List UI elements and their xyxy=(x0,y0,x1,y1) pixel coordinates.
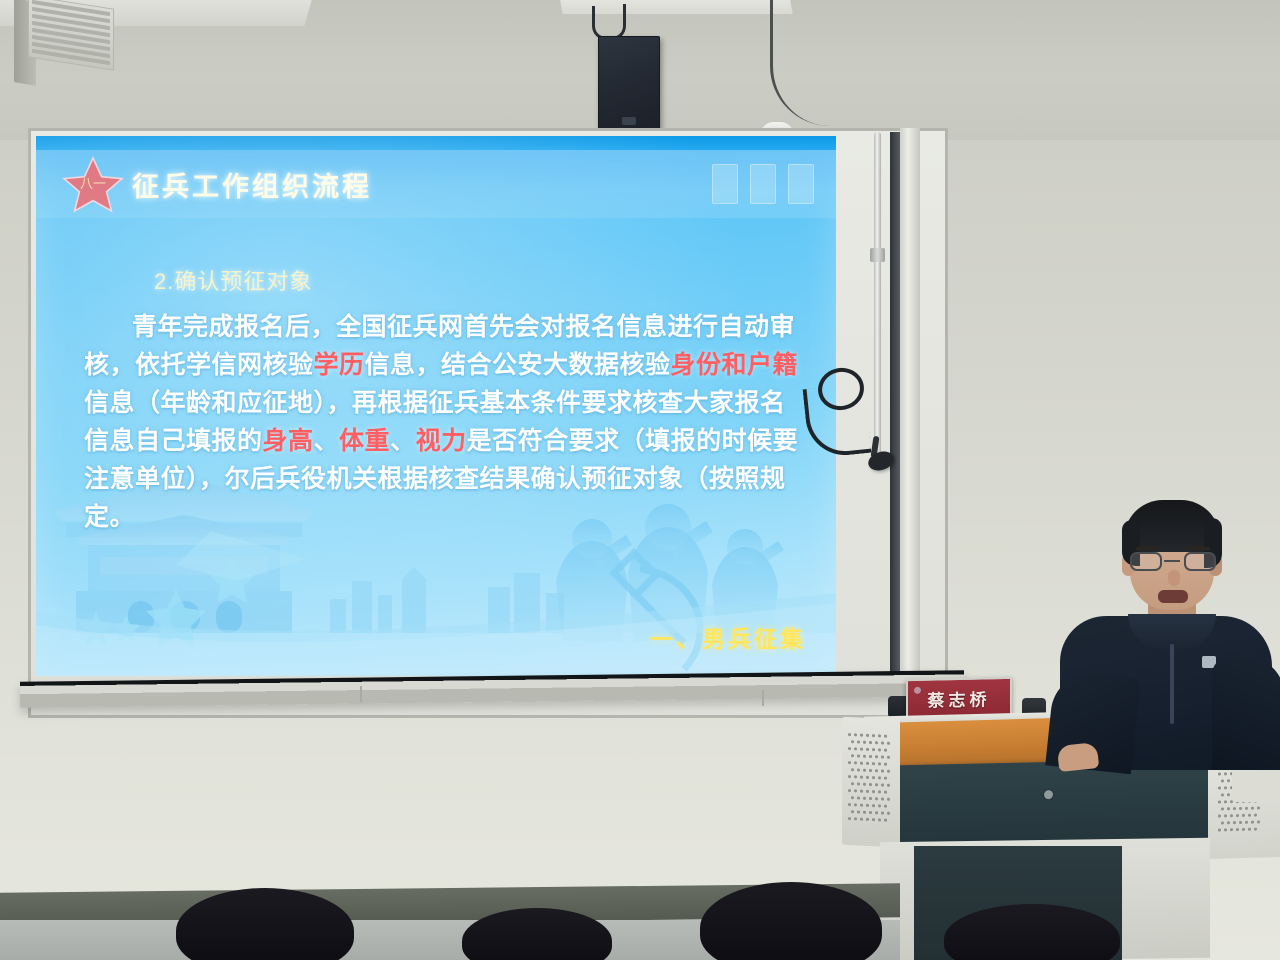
grill-dot xyxy=(1242,828,1245,831)
microphone-rod xyxy=(874,132,881,462)
header-decor-box-3 xyxy=(788,164,814,204)
presenter-arm-right xyxy=(1212,658,1280,770)
grill-dot xyxy=(1254,814,1257,817)
grill-dot xyxy=(1245,807,1248,810)
grill-dot xyxy=(1245,821,1248,824)
grill-dot xyxy=(884,777,887,780)
grill-dot xyxy=(1230,814,1233,817)
grill-dot xyxy=(854,789,857,792)
grill-dot xyxy=(872,804,875,807)
header-decor-box-1 xyxy=(712,164,738,204)
grill-dot xyxy=(878,734,881,737)
speaker-wire xyxy=(592,6,614,40)
grill-dot xyxy=(1227,793,1230,796)
grill-dot xyxy=(851,768,854,771)
slide-title: 征兵工作组织流程 xyxy=(132,165,372,204)
grill-dot xyxy=(866,804,869,807)
grill-dot xyxy=(875,741,878,744)
slide-body-text: 青年完成报名后，全国征兵网首先会对报名信息进行自动审核，依托学信网核验学历信息，… xyxy=(84,308,800,536)
eyeglasses-icon xyxy=(1128,552,1218,572)
presenter-nose xyxy=(1168,570,1180,586)
tray-seam-1 xyxy=(360,686,362,702)
grill-dot xyxy=(1218,786,1221,789)
grill-dot xyxy=(860,748,863,751)
grill-dot xyxy=(881,783,884,786)
microphone-collar xyxy=(870,248,885,262)
grill-dot xyxy=(1257,806,1260,809)
slide-body-line: 信息自己填报的身高、体重、视力是否符合要求（填报的时候要 xyxy=(84,422,800,460)
grill-dot xyxy=(848,775,851,778)
grill-dot xyxy=(1242,814,1245,817)
grill-dot xyxy=(1227,807,1230,810)
slide-body-run: 核，依托学信网核验 xyxy=(84,351,314,379)
grill-dot xyxy=(887,742,890,745)
grill-dot xyxy=(857,796,860,799)
grill-dot xyxy=(854,747,857,750)
slide-body-run: 注意单位），尔后兵役机关根据核查结果确认预征对象（按照规 xyxy=(84,465,786,493)
grill-dot xyxy=(1233,807,1236,810)
presenter-hand xyxy=(1057,742,1099,772)
decor-stars xyxy=(79,557,256,647)
grill-dot xyxy=(854,817,857,820)
slide-body-run: 青年完成报名后，全国征兵网首先会对报名信息进行自动审 xyxy=(132,313,795,341)
grill-dot xyxy=(878,818,881,821)
grill-dot xyxy=(881,755,884,758)
grill-dot xyxy=(881,811,884,814)
wall-speaker-icon xyxy=(598,36,660,132)
grill-dot xyxy=(1218,828,1221,831)
grill-dot xyxy=(1218,814,1221,817)
grill-dot xyxy=(1224,786,1227,789)
grill-dot xyxy=(875,797,878,800)
grill-dot xyxy=(887,798,890,801)
grill-dot xyxy=(860,734,863,737)
slide-header: 八一 征兵工作组织流程 xyxy=(36,150,836,218)
grill-dot xyxy=(869,783,872,786)
grill-dot xyxy=(866,790,869,793)
grill-dot xyxy=(1251,821,1254,824)
grill-dot xyxy=(884,735,887,738)
grill-dot xyxy=(1257,820,1260,823)
grill-dot xyxy=(863,769,866,772)
grill-dot xyxy=(863,741,866,744)
nameplate-text: 蔡志桥 xyxy=(928,685,991,711)
grill-dot xyxy=(866,818,869,821)
projection-screen: 八一 征兵工作组织流程 2.确认预征对象 青年完成报名后，全国征兵网首先会对报名… xyxy=(36,136,836,676)
grill-dot xyxy=(848,817,851,820)
grill-dot xyxy=(1221,793,1224,796)
presenter-zipper xyxy=(1170,644,1174,724)
grill-dot xyxy=(884,791,887,794)
grill-dot xyxy=(872,790,875,793)
slide-body-line: 核，依托学信网核验学历信息，结合公安大数据核验身份和户籍 xyxy=(84,346,800,384)
grill-dot xyxy=(857,754,860,757)
grill-dot xyxy=(848,789,851,792)
podium-speaker-grill-left xyxy=(848,733,892,825)
grill-dot xyxy=(857,782,860,785)
grill-dot xyxy=(872,748,875,751)
grill-dot xyxy=(860,776,863,779)
grill-dot xyxy=(1224,814,1227,817)
grill-dot xyxy=(860,818,863,821)
grill-dot xyxy=(878,762,881,765)
grill-dot xyxy=(866,748,869,751)
grill-dot xyxy=(1221,821,1224,824)
grill-dot xyxy=(872,762,875,765)
slide-body-run: 信息，结合公安大数据核验 xyxy=(365,351,671,379)
slide-body-highlight: 体重 xyxy=(339,427,390,455)
header-decor-box-2 xyxy=(750,164,776,204)
whiteboard-dark-edge xyxy=(890,132,900,717)
slide-body-line: 信息（年龄和应征地），再根据征兵基本条件要求核查大家报名 xyxy=(84,384,800,422)
slide-body-run: 信息自己填报的 xyxy=(84,427,263,455)
slide-body-line: 定。 xyxy=(84,498,800,536)
grill-dot xyxy=(887,812,890,815)
grill-dot xyxy=(869,755,872,758)
grill-dot xyxy=(878,776,881,779)
grill-dot xyxy=(881,741,884,744)
grill-dot xyxy=(851,810,854,813)
grill-dot xyxy=(881,797,884,800)
slide-body-run: 、 xyxy=(390,427,416,455)
grill-dot xyxy=(1236,828,1239,831)
grill-dot xyxy=(1236,814,1239,817)
lecture-hall-photo: 八一 征兵工作组织流程 2.确认预征对象 青年完成报名后，全国征兵网首先会对报名… xyxy=(0,0,1280,960)
grill-dot xyxy=(869,797,872,800)
grill-dot xyxy=(1251,807,1254,810)
grill-dot xyxy=(863,783,866,786)
grill-dot xyxy=(854,761,857,764)
screen-top-band xyxy=(36,136,836,150)
slide-body-line: 青年完成报名后，全国征兵网首先会对报名信息进行自动审 xyxy=(84,308,800,346)
grill-dot xyxy=(878,748,881,751)
grill-dot xyxy=(857,810,860,813)
grill-dot xyxy=(887,756,890,759)
grill-dot xyxy=(1218,772,1221,775)
grill-dot xyxy=(869,769,872,772)
camera-cable xyxy=(770,0,890,126)
grill-dot xyxy=(1239,821,1242,824)
grill-dot xyxy=(1248,828,1251,831)
slide-body-highlight: 身高 xyxy=(263,427,314,455)
grill-dot xyxy=(860,790,863,793)
grill-dot xyxy=(1254,828,1257,831)
grill-dot xyxy=(869,811,872,814)
grill-dot xyxy=(1239,807,1242,810)
grill-dot xyxy=(1218,800,1221,803)
slide-header-decor xyxy=(712,164,814,204)
grill-dot xyxy=(863,797,866,800)
grill-dot xyxy=(857,768,860,771)
grill-dot xyxy=(854,803,857,806)
grill-dot xyxy=(887,770,890,773)
grill-dot xyxy=(1227,779,1230,782)
grill-dot xyxy=(872,776,875,779)
slide-body-run: 定。 xyxy=(84,503,135,531)
grill-dot xyxy=(1221,807,1224,810)
slide-body-highlight: 视力 xyxy=(416,427,467,455)
grill-dot xyxy=(854,733,857,736)
grill-dot xyxy=(1248,814,1251,817)
slide-subtitle: 2.确认预征对象 xyxy=(154,264,312,296)
grill-dot xyxy=(866,776,869,779)
podium-front-panel xyxy=(894,759,1214,848)
grill-dot xyxy=(875,769,878,772)
grill-dot xyxy=(863,811,866,814)
grill-dot xyxy=(860,804,863,807)
grill-dot xyxy=(851,740,854,743)
nameplate-dot xyxy=(914,687,921,694)
presenter-mouth xyxy=(1158,590,1188,603)
city-skyline xyxy=(330,567,564,633)
grill-dot xyxy=(881,769,884,772)
grill-dot xyxy=(1224,828,1227,831)
grill-dot xyxy=(872,818,875,821)
grill-dot xyxy=(848,803,851,806)
grill-dot xyxy=(854,775,857,778)
grill-dot xyxy=(884,749,887,752)
grill-dot xyxy=(1224,800,1227,803)
grill-dot xyxy=(848,733,851,736)
grill-dot xyxy=(875,811,878,814)
grill-dot xyxy=(887,784,890,787)
grill-dot xyxy=(1233,821,1236,824)
slide-body-highlight: 身份和户籍 xyxy=(671,351,799,379)
grill-dot xyxy=(884,763,887,766)
grill-dot xyxy=(857,740,860,743)
red-star-bayi-icon: 八一 xyxy=(62,155,124,213)
grill-dot xyxy=(851,754,854,757)
grill-dot xyxy=(1221,779,1224,782)
grill-dot xyxy=(875,783,878,786)
grill-dot xyxy=(866,734,869,737)
slide-body-highlight: 学历 xyxy=(314,351,365,379)
whiteboard-right-edge xyxy=(900,128,920,718)
grill-dot xyxy=(866,762,869,765)
slide-footer: 一、男兵征集 xyxy=(650,620,806,654)
grill-dot xyxy=(848,747,851,750)
svg-text:八一: 八一 xyxy=(80,176,106,191)
grill-dot xyxy=(860,762,863,765)
grill-dot xyxy=(863,755,866,758)
grill-dot xyxy=(884,805,887,808)
slide-body-run: 是否符合要求（填报的时候要 xyxy=(467,427,799,455)
grill-dot xyxy=(1230,828,1233,831)
grill-dot xyxy=(851,796,854,799)
grill-dot xyxy=(869,741,872,744)
grill-dot xyxy=(878,804,881,807)
grill-dot xyxy=(878,790,881,793)
tray-seam-2 xyxy=(762,690,764,706)
grill-dot xyxy=(875,755,878,758)
presenter xyxy=(1052,498,1280,770)
grill-dot xyxy=(851,782,854,785)
grill-dot xyxy=(1224,772,1227,775)
slide-body-run: 、 xyxy=(314,427,340,455)
slide-body-line: 注意单位），尔后兵役机关根据核查结果确认预征对象（按照规 xyxy=(84,460,800,498)
grill-dot xyxy=(884,819,887,822)
grill-dot xyxy=(872,734,875,737)
grill-dot xyxy=(1227,821,1230,824)
grill-dot xyxy=(848,761,851,764)
slide-body-run: 信息（年龄和应征地），再根据征兵基本条件要求核查大家报名 xyxy=(84,389,786,417)
